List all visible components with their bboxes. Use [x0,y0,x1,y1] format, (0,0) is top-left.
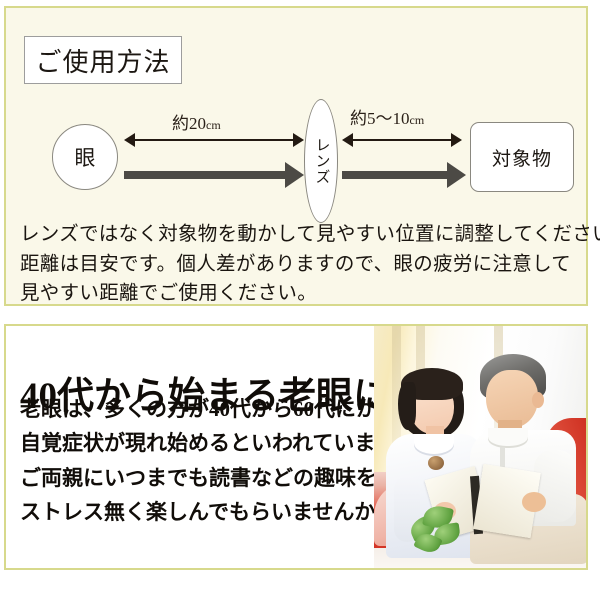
promo-body-line: ご両親にいつまでも読書などの趣味を [20,461,420,495]
photo-man-arm [534,450,576,522]
usage-title-box: ご使用方法 [24,36,182,84]
diagram-node-object-label: 対象物 [492,144,552,171]
promo-photo-couple-reading [374,326,586,568]
flow-arrow-eye-to-lens [124,162,304,188]
photo-woman-hair-side [398,382,416,430]
presbyopia-promo-panel: 40代から始まる老眼に 老眼は、多くの方が40代から60代にかけて 自覚症状が現… [4,324,588,570]
diagram-node-eye-label: 眼 [75,142,96,172]
dimension-arrow-lens-to-object [342,133,462,147]
photo-plant [408,504,464,556]
usage-diagram: 眼 約20cm レンズ 約5〜10cm [6,104,590,220]
measurement-2-prefix: 約 [350,109,367,128]
flow-arrow-tip-icon [285,162,304,188]
flow-arrow-bar [342,171,450,179]
photo-man-collar [488,428,528,448]
measurement-1-unit: cm [206,118,221,132]
arrow-shaft [131,139,297,141]
diagram-node-object: 対象物 [470,122,574,192]
photo-woman-pendant [428,456,444,470]
usage-instructions-panel: ご使用方法 眼 約20cm レンズ 約5〜10cm [4,6,588,306]
diagram-node-lens: レンズ [304,99,338,223]
promo-body-line: ストレス無く楽しんでもらいませんか。 [20,495,420,529]
measurement-label-eye-to-lens: 約20cm [172,109,221,134]
promo-body-line: 自覚症状が現れ始めるといわれています。 [20,426,420,460]
measurement-1-prefix: 約 [172,114,189,133]
arrow-head-right-icon [451,133,462,147]
usage-note-line: 距離は目安です。個人差がありますので、眼の疲労に注意して [20,250,580,280]
usage-note-text: レンズではなく対象物を動かして見やすい位置に調整してください。 距離は目安です。… [20,220,580,309]
flow-arrow-bar [124,171,288,179]
flow-arrow-tip-icon [447,162,466,188]
photo-man-hand [522,492,546,512]
measurement-2-value: 5〜10 [367,109,410,128]
photo-woman-collar [414,434,454,456]
arrow-shaft [349,139,455,141]
arrow-head-right-icon [293,133,304,147]
promo-body-text: 老眼は、多くの方が40代から60代にかけて 自覚症状が現れ始めるといわれています… [20,392,420,530]
measurement-label-lens-to-object: 約5〜10cm [350,104,424,129]
diagram-node-lens-label: レンズ [314,137,329,185]
usage-title-text: ご使用方法 [35,42,170,79]
diagram-node-eye: 眼 [52,124,118,190]
usage-note-line: 見やすい距離でご使用ください。 [20,279,580,309]
promo-body-line: 老眼は、多くの方が40代から60代にかけて [20,392,420,426]
measurement-1-value: 20 [189,114,206,133]
flow-arrow-lens-to-object [342,162,466,188]
photo-man-ear [532,392,544,408]
dimension-arrow-eye-to-lens [124,133,304,147]
usage-note-line: レンズではなく対象物を動かして見やすい位置に調整してください。 [20,220,580,250]
measurement-2-unit: cm [410,113,425,127]
